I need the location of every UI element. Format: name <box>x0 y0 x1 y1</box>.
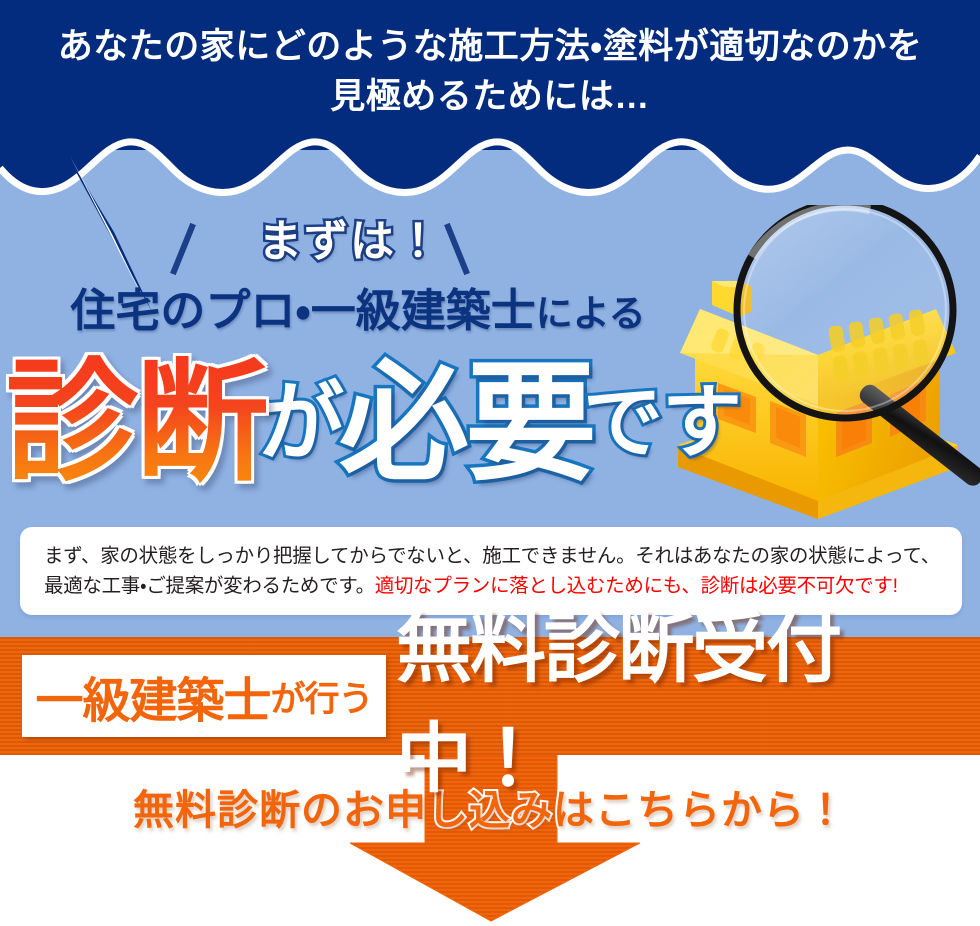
top-banner-heading: あなたの家にどのような施工方法・塗料が適切なのかを 見極めるためには… <box>0 22 980 122</box>
hero-subheading-tail: による <box>536 293 646 334</box>
architect-badge-main: 一級建築士 <box>35 661 270 731</box>
description-line-1: まず、家の状態をしっかり把握してからでないと、施工できません。それはあなたの家の… <box>44 541 944 571</box>
hero-headline: 診断が必要です <box>6 352 906 502</box>
top-banner-line1: あなたの家にどのような施工方法・塗料が適切なのかを <box>58 27 922 66</box>
architect-badge: 一級建築士が行う <box>22 655 386 737</box>
hero-subheading: 住宅のプロ・一級建築士による <box>8 282 708 343</box>
promo-banner: あなたの家にどのような施工方法・塗料が適切なのかを 見極めるためには… <box>0 0 980 926</box>
architect-badge-suffix: が行う <box>271 671 373 722</box>
headline-ga: が <box>258 352 343 494</box>
top-banner-line2: 見極めるためには… <box>0 72 980 122</box>
cta-headline: 無料診断受付中！ <box>396 645 976 749</box>
cta-orange-bar[interactable]: 一級建築士が行う 無料診断受付中！ <box>0 637 980 755</box>
description-line-2-black: 最適な工事・ご提案が変わるためです。 <box>44 575 375 597</box>
eyebrow-wrapper: まずは！ <box>0 212 700 274</box>
headline-desu: です <box>583 352 741 494</box>
headline-shindan: 診断 <box>6 352 266 494</box>
headline-hitsuyo: 必要 <box>339 352 593 494</box>
hero-subheading-main: 住宅のプロ・一級建築士 <box>70 285 535 336</box>
eyebrow-text: まずは！ <box>258 212 442 272</box>
